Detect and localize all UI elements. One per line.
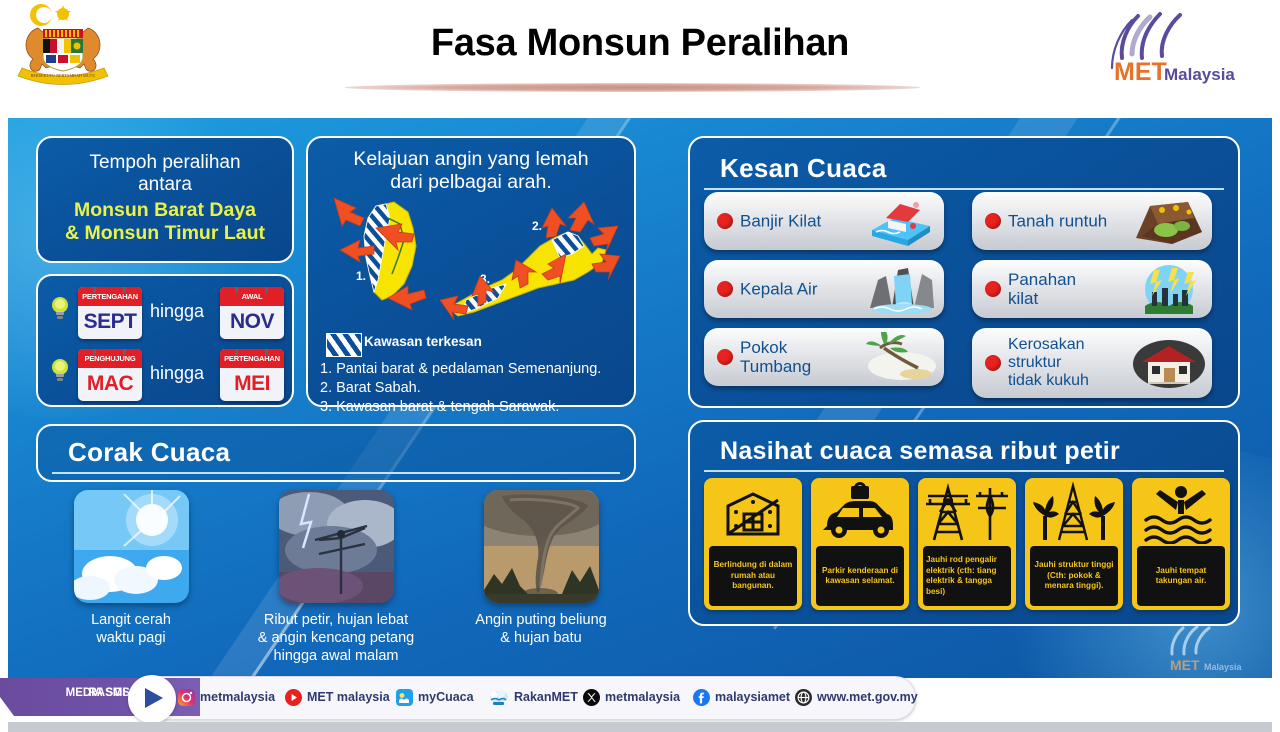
instagram-icon — [178, 689, 195, 706]
infographic-canvas: Tempoh peralihan antara Monsun Barat Day… — [8, 118, 1272, 678]
page-title: Fasa Monsun Peralihan — [0, 22, 1280, 65]
landslide-icon — [1132, 196, 1206, 246]
social-handle: www.met.gov.my — [817, 690, 918, 704]
advice-card[interactable]: Jauhi rod pengalir elektrik (cth: tiang … — [918, 478, 1016, 610]
kesan-heading: Kesan Cuaca — [704, 148, 1224, 190]
met-malaysia-logo: MET Malaysia — [1098, 6, 1238, 86]
svg-text:1.: 1. — [356, 269, 366, 283]
social-media-bar: MEDIA SOSIAL RASMI metmalaysia ME — [0, 676, 1280, 720]
bullet-dot-icon — [717, 213, 733, 229]
calendar-qualifier: PENGHUJUNG — [78, 349, 142, 368]
effect-label: Panahan kilat — [1008, 270, 1138, 308]
play-triangle-icon — [145, 688, 163, 708]
calendar-from: PENGHUJUNG MAC — [78, 349, 142, 401]
calendar-qualifier: PERTENGAHAN — [220, 349, 284, 368]
effect-card[interactable]: Banjir Kilat — [704, 192, 944, 250]
affected-area-2: 2. Barat Sabah. — [320, 379, 632, 398]
social-account-mycuaca[interactable]: myCuaca — [396, 687, 474, 707]
youtube-icon — [285, 689, 302, 706]
social-handle: metmalaysia — [605, 690, 680, 704]
play-button[interactable] — [128, 675, 176, 723]
effect-label: Kerosakan struktur tidak kukuh — [1008, 336, 1138, 390]
parked-car-lock-icon — [811, 482, 909, 544]
calendar-to: AWAL NOV — [220, 287, 284, 339]
social-account-facebook[interactable]: malaysiamet — [693, 687, 790, 707]
weather-pattern-item: Langit cerah waktu pagi — [36, 490, 226, 647]
rakanmet-icon — [488, 688, 509, 706]
weather-pattern-caption: Angin puting beliung & hujan batu — [446, 611, 636, 647]
affected-area-1: 1. Pantai barat & pedalaman Semenanjung. — [320, 360, 632, 379]
malaysia-wind-map: 1. 2. 3. — [316, 188, 630, 333]
weather-effects-box: Kesan Cuaca Banjir Kilat Kepala Air — [688, 136, 1240, 408]
weather-pattern-item: Angin puting beliung & hujan batu — [446, 490, 636, 647]
svg-text:BERSEKUTU BERTAMBAH MUTU: BERSEKUTU BERTAMBAH MUTU — [31, 73, 96, 78]
svg-text:2.: 2. — [532, 219, 542, 233]
water-surge-icon — [864, 264, 938, 314]
social-account-website[interactable]: www.met.gov.my — [795, 687, 918, 707]
flash-flood-icon — [864, 196, 938, 246]
effect-card[interactable]: Kepala Air — [704, 260, 944, 318]
power-pylon-icon — [918, 482, 1016, 544]
social-handle: MET malaysia — [307, 690, 390, 704]
person-in-water-icon — [1132, 482, 1230, 544]
social-handle: malaysiamet — [715, 690, 790, 704]
page-header: BERSEKUTU BERTAMBAH MUTU Fasa Monsun Per… — [0, 0, 1280, 118]
calendar-month: MAC — [78, 368, 142, 401]
facebook-icon — [693, 689, 710, 706]
date-row: PERTENGAHAN SEPT hingga AWAL NOV — [38, 284, 296, 342]
title-underline-decoration — [345, 83, 920, 92]
damaged-house-icon — [1132, 338, 1206, 388]
bullet-dot-icon — [717, 349, 733, 365]
wind-speed-box: Kelajuan angin yang lemah dari pelbagai … — [306, 136, 636, 407]
weather-pattern-item: Ribut petir, hujan lebat & angin kencang… — [241, 490, 431, 665]
tempoh-line2: antara — [38, 174, 292, 196]
effect-card[interactable]: Kerosakan struktur tidak kukuh — [972, 328, 1212, 398]
thunderstorm-advice-box: Nasihat cuaca semasa ribut petir — [688, 420, 1240, 626]
svg-text:MET: MET — [1170, 657, 1200, 672]
x-twitter-icon — [583, 689, 600, 706]
bullet-dot-icon — [985, 213, 1001, 229]
tempoh-highlight1: Monsun Barat Daya — [38, 199, 292, 222]
clear-sky-morning-photo — [74, 490, 189, 603]
effect-label: Banjir Kilat — [740, 212, 870, 231]
social-account-instagram[interactable]: metmalaysia — [178, 687, 275, 707]
svg-text:Malaysia: Malaysia — [1164, 65, 1235, 84]
calendar-month: SEPT — [78, 306, 142, 339]
fallen-tree-icon — [864, 332, 938, 382]
social-handle: metmalaysia — [200, 690, 275, 704]
tempoh-highlight2: & Monsun Timur Laut — [38, 222, 292, 245]
lightbulb-icon — [50, 296, 70, 322]
advice-text: Jauhi rod pengalir elektrik (cth: tiang … — [923, 546, 1011, 606]
effect-card[interactable]: Pokok Tumbang — [704, 328, 944, 386]
advice-card[interactable]: Jauhi tempat takungan air. — [1132, 478, 1230, 610]
advice-text: Jauhi tempat takungan air. — [1137, 546, 1225, 606]
lightbulb-icon — [50, 358, 70, 384]
calendar-qualifier: AWAL — [220, 287, 284, 306]
social-handle: RakanMET — [514, 690, 578, 704]
social-account-rakanmet[interactable]: RakanMET — [488, 687, 578, 707]
social-handle: myCuaca — [418, 690, 474, 704]
svg-text:MET: MET — [1114, 58, 1167, 86]
advice-text: Berlindung di dalam rumah atau bangunan. — [709, 546, 797, 606]
globe-icon — [795, 689, 812, 706]
nasihat-heading: Nasihat cuaca semasa ribut petir — [704, 432, 1224, 472]
effect-label: Pokok Tumbang — [740, 338, 870, 376]
calendar-from: PERTENGAHAN SEPT — [78, 287, 142, 339]
bullet-dot-icon — [717, 281, 733, 297]
calendar-qualifier: PERTENGAHAN — [78, 287, 142, 306]
effect-card[interactable]: Panahan kilat — [972, 260, 1212, 318]
calendar-month: MEI — [220, 368, 284, 401]
shelter-house-icon — [704, 482, 802, 544]
tornado-photo — [484, 490, 599, 603]
tall-tower-tree-icon — [1025, 482, 1123, 544]
bullet-dot-icon — [985, 281, 1001, 297]
svg-text:Malaysia: Malaysia — [1204, 662, 1243, 672]
transition-period-box: Tempoh peralihan antara Monsun Barat Day… — [36, 136, 294, 263]
date-row: PENGHUJUNG MAC hingga PERTENGAHAN MEI — [38, 346, 296, 404]
affected-area-legend-label: Kawasan terkesan — [364, 334, 482, 349]
affected-area-3: 3. Kawasan barat & tengah Sarawak. — [320, 398, 632, 417]
advice-text: Parkir kenderaan di kawasan selamat. — [816, 546, 904, 606]
corak-heading: Corak Cuaca — [52, 432, 620, 474]
weather-pattern-header-box: Corak Cuaca — [36, 424, 636, 482]
advice-card[interactable]: Berlindung di dalam rumah atau bangunan. — [704, 478, 802, 610]
advice-text: Jauhi struktur tinggi (Cth: pokok & mena… — [1030, 546, 1118, 606]
social-account-x[interactable]: metmalaysia — [583, 687, 680, 707]
bullet-dot-icon — [985, 355, 1001, 371]
effect-label: Kepala Air — [740, 280, 870, 299]
weather-pattern-caption: Ribut petir, hujan lebat & angin kencang… — [241, 611, 431, 665]
effect-label: Tanah runtuh — [1008, 212, 1138, 231]
weather-pattern-photos: Langit cerah waktu pagi — [36, 490, 636, 665]
tempoh-line1: Tempoh peralihan — [38, 152, 292, 174]
mycuaca-app-icon — [396, 689, 413, 706]
wind-title-line1: Kelajuan angin yang lemah — [308, 148, 634, 171]
bottom-strip — [8, 722, 1272, 732]
social-account-youtube[interactable]: MET malaysia — [285, 687, 390, 707]
met-malaysia-watermark: MET Malaysia — [1148, 624, 1258, 672]
affected-area-legend-swatch — [326, 333, 362, 357]
lightning-strike-icon — [1132, 264, 1206, 314]
effect-card[interactable]: Tanah runtuh — [972, 192, 1212, 250]
thunderstorm-photo — [279, 490, 394, 603]
advice-card[interactable]: Jauhi struktur tinggi (Cth: pokok & mena… — [1025, 478, 1123, 610]
connector-label: hingga — [150, 301, 204, 322]
monsoon-dates-box: PERTENGAHAN SEPT hingga AWAL NOV — [36, 274, 294, 407]
calendar-to: PERTENGAHAN MEI — [220, 349, 284, 401]
weather-pattern-caption: Langit cerah waktu pagi — [36, 611, 226, 647]
connector-label: hingga — [150, 363, 204, 384]
advice-card[interactable]: Parkir kenderaan di kawasan selamat. — [811, 478, 909, 610]
calendar-month: NOV — [220, 306, 284, 339]
